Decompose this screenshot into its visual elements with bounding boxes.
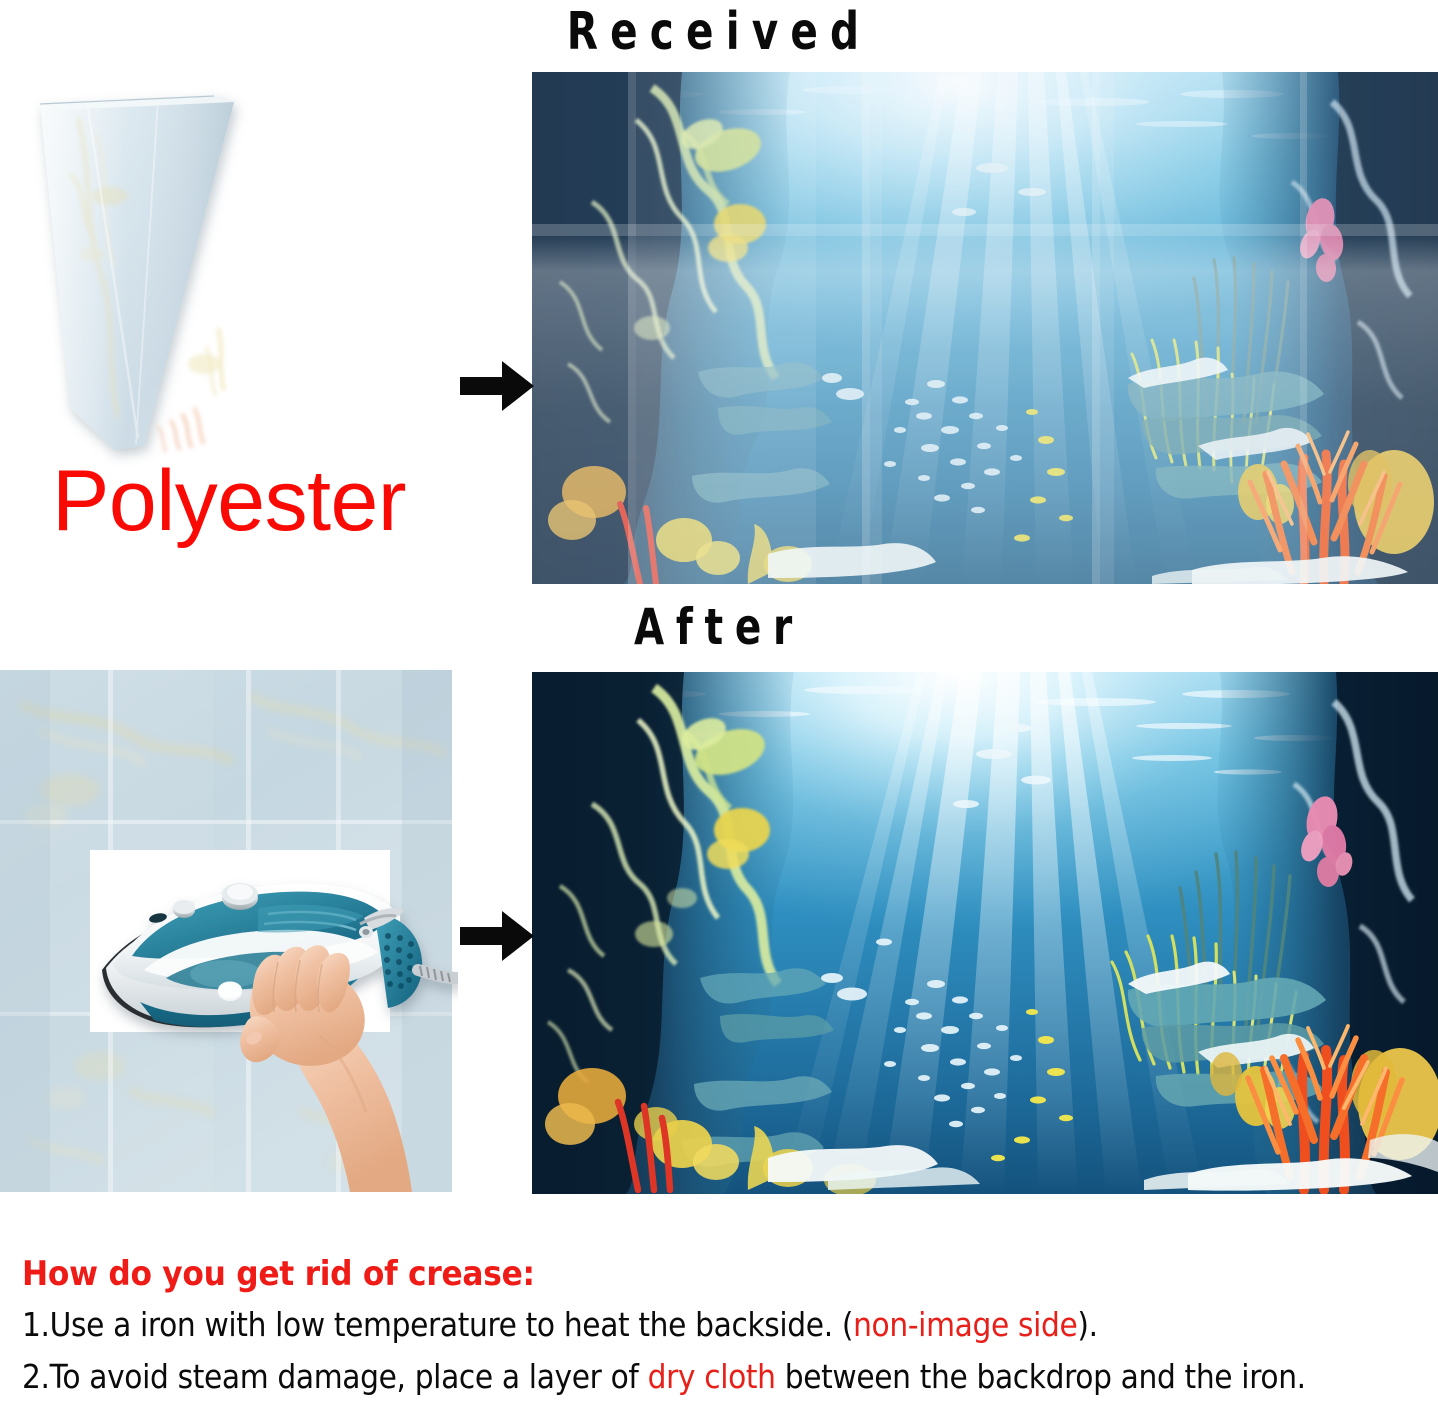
instruction-1-text-a: 1.Use a iron with low temperature to hea… <box>22 1305 853 1344</box>
reef-backdrop-after-image <box>532 672 1438 1194</box>
instruction-line-1: 1.Use a iron with low temperature to hea… <box>22 1302 1282 1348</box>
page-title-received: Received <box>158 2 1280 62</box>
instruction-1-text-b: ). <box>1077 1305 1097 1344</box>
instruction-2-highlight: dry cloth <box>648 1357 776 1396</box>
instruction-2-text-a: 2.To avoid steam damage, place a layer o… <box>22 1357 648 1396</box>
page-title-after: After <box>158 598 1280 656</box>
folded-fabric-image <box>18 78 408 478</box>
instruction-line-2: 2.To avoid steam damage, place a layer o… <box>22 1354 1282 1400</box>
instructions-block: How do you get rid of crease: 1.Use a ir… <box>22 1252 1422 1400</box>
reef-backdrop-received-image <box>532 72 1438 584</box>
iron-white-panel <box>90 850 390 1032</box>
instruction-1-highlight: non-image side <box>853 1305 1077 1344</box>
polyester-label: Polyester <box>52 455 406 547</box>
instructions-heading: How do you get rid of crease: <box>22 1252 1310 1296</box>
right-arrow-icon <box>458 358 536 414</box>
instruction-2-text-b: between the backdrop and the iron. <box>776 1357 1306 1396</box>
right-arrow-icon-2 <box>458 908 536 964</box>
